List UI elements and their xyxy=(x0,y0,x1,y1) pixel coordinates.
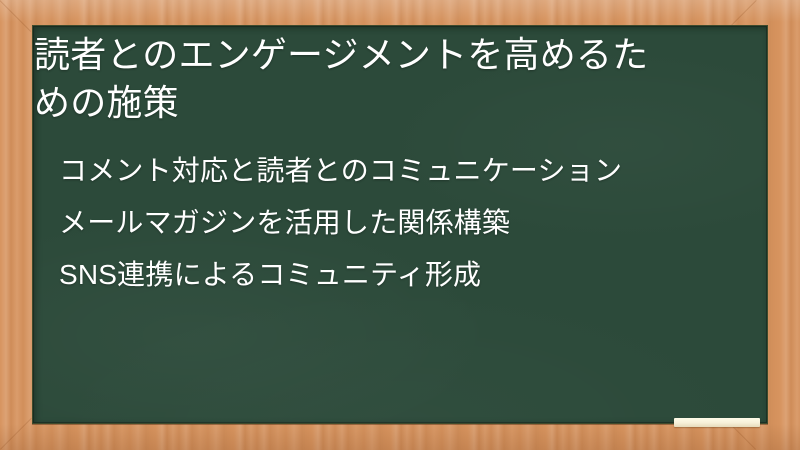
chalkboard-content: 読者とのエンゲージメントを高めるた めの施策 コメント対応と読者とのコミュニケー… xyxy=(33,26,767,423)
bullet-item-2: メールマガジンを活用した関係構築 xyxy=(59,206,749,240)
frame-miter-bottom-left xyxy=(0,418,32,450)
slide-title: 読者とのエンゲージメントを高めるた めの施策 xyxy=(34,31,734,127)
slide-bullet-list: コメント対応と読者とのコミュニケーション メールマガジンを活用した関係構築 SN… xyxy=(59,154,749,310)
bullet-item-3: SNS連携によるコミュニティ形成 xyxy=(59,258,749,292)
chalkboard-surface: 読者とのエンゲージメントを高めるた めの施策 コメント対応と読者とのコミュニケー… xyxy=(32,25,768,424)
chalkboard-slide: 読者とのエンゲージメントを高めるた めの施策 コメント対応と読者とのコミュニケー… xyxy=(0,0,800,450)
chalk-stick xyxy=(674,418,760,427)
frame-miter-top-left xyxy=(0,0,31,32)
bullet-item-1: コメント対応と読者とのコミュニケーション xyxy=(59,154,749,188)
